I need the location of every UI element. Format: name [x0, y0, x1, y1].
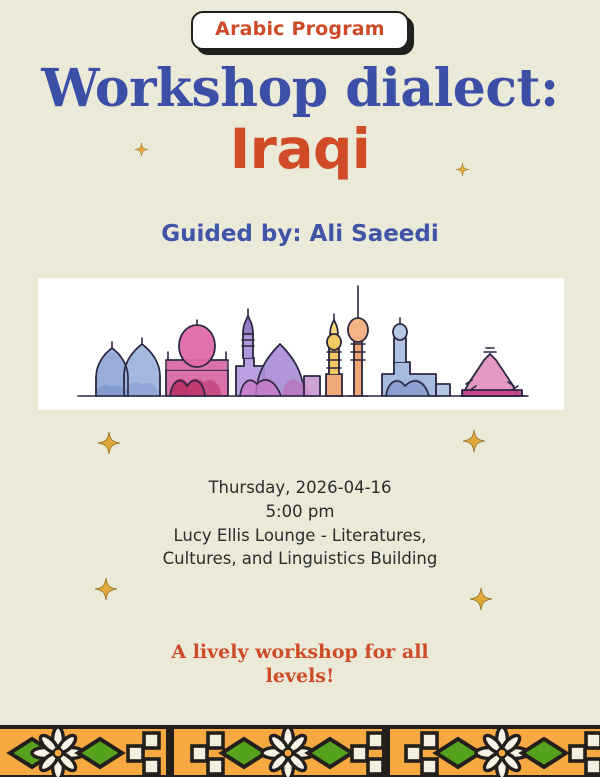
- sparkle-low-left-icon: [95, 578, 117, 600]
- sparkle-mid-right-icon: [463, 430, 485, 452]
- event-time: 5:00 pm: [0, 500, 600, 524]
- page-title: Workshop dialect:: [0, 63, 600, 115]
- event-date: Thursday, 2026-04-16: [0, 476, 600, 500]
- program-badge: Arabic Program: [191, 11, 409, 50]
- tagline: A lively workshop for all levels!: [150, 640, 450, 689]
- ornamental-border: [0, 725, 600, 777]
- sparkle-mid-left-icon: [98, 432, 120, 454]
- sparkle-title-right-icon: [456, 163, 469, 176]
- sparkle-title-left-icon: [135, 143, 148, 156]
- event-details: Thursday, 2026-04-16 5:00 pm Lucy Ellis …: [0, 476, 600, 571]
- page-title-dialect: Iraqi: [0, 122, 600, 177]
- poster-canvas: Arabic Program Workshop dialect: Iraqi G…: [0, 0, 600, 777]
- badge-container: Arabic Program: [0, 11, 600, 50]
- event-venue-line-2: Cultures, and Linguistics Building: [0, 547, 600, 571]
- sparkle-low-right-icon: [470, 588, 492, 610]
- presenter-line: Guided by: Ali Saeedi: [0, 223, 600, 246]
- event-venue-line-1: Lucy Ellis Lounge - Literatures,: [0, 524, 600, 548]
- skyline-illustration: [38, 278, 564, 410]
